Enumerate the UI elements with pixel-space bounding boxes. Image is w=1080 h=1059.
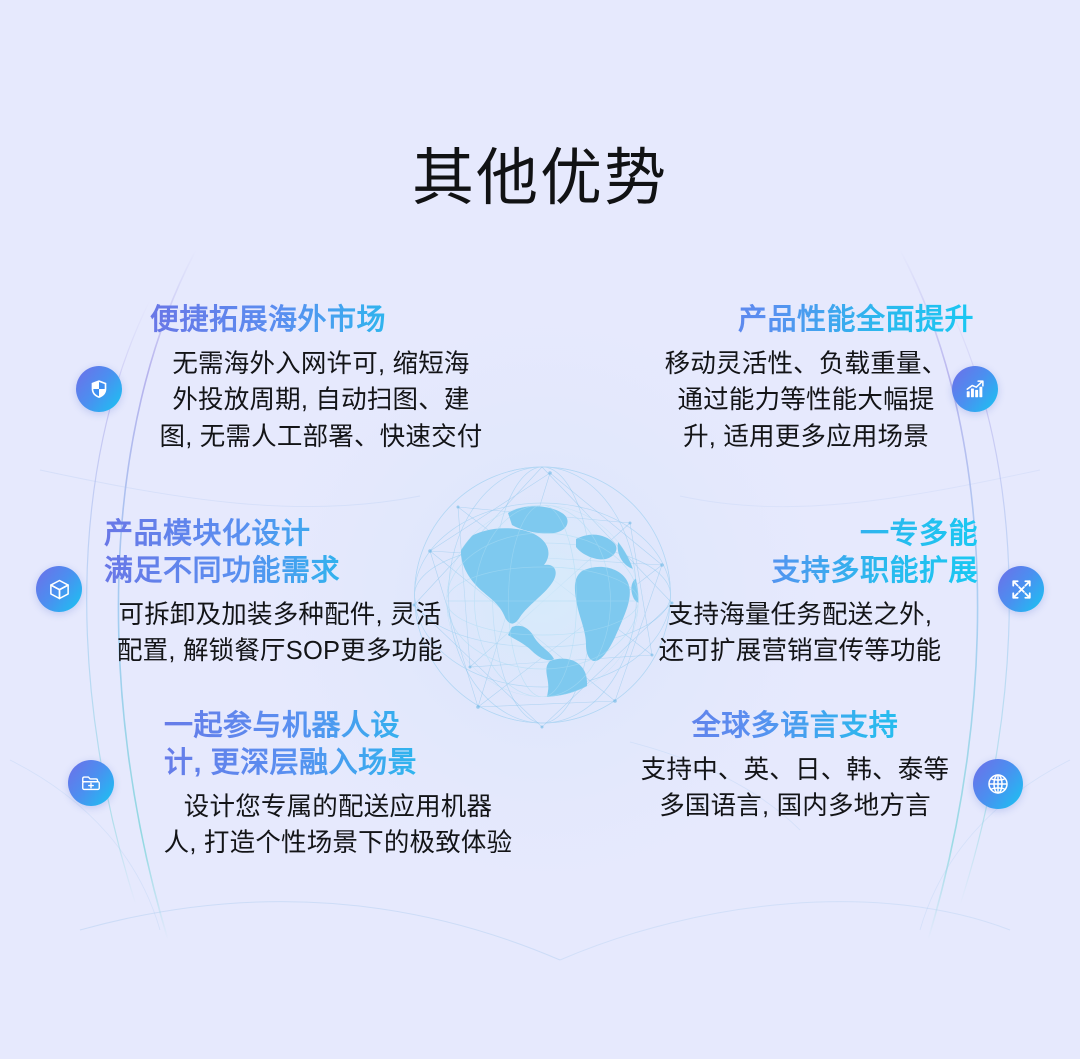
feature-heading: 产品模块化设计 满足不同功能需求 xyxy=(100,516,460,590)
cube-icon xyxy=(36,566,82,612)
feature-heading: 一专多能 支持多职能扩展 xyxy=(620,516,980,590)
feature-body: 支持中、英、日、韩、泰等 多国语言, 国内多地方言 xyxy=(610,752,980,824)
feature-body: 设计您专属的配送应用机器 人, 打造个性场景下的极致体验 xyxy=(128,789,548,861)
feature-block-co-design: 一起参与机器人设 计, 更深层融入场景 设计您专属的配送应用机器 人, 打造个性… xyxy=(128,708,548,862)
globe-icon xyxy=(973,759,1023,809)
folder-plus-icon xyxy=(68,760,114,806)
feature-block-multi-language: 全球多语言支持 支持中、英、日、韩、泰等 多国语言, 国内多地方言 xyxy=(610,708,980,825)
feature-heading: 一起参与机器人设 计, 更深层融入场景 xyxy=(128,708,548,782)
feature-body: 无需海外入网许可, 缩短海 外投放周期, 自动扫图、建 图, 无需人工部署、快速… xyxy=(146,346,496,455)
feature-body: 可拆卸及加装多种配件, 灵活 配置, 解锁餐厅SOP更多功能 xyxy=(100,597,460,669)
feature-heading: 便捷拓展海外市场 xyxy=(146,302,496,339)
feature-block-overseas-market: 便捷拓展海外市场 无需海外入网许可, 缩短海 外投放周期, 自动扫图、建 图, … xyxy=(146,302,496,455)
feature-heading: 全球多语言支持 xyxy=(610,708,980,745)
feature-body: 支持海量任务配送之外, 还可扩展营销宣传等功能 xyxy=(620,597,980,669)
feature-block-multi-function: 一专多能 支持多职能扩展 支持海量任务配送之外, 还可扩展营销宣传等功能 xyxy=(620,516,980,670)
growth-chart-icon xyxy=(952,366,998,412)
feature-body: 移动灵活性、负载重量、 通过能力等性能大幅提 升, 适用更多应用场景 xyxy=(632,346,980,455)
feature-block-product-performance: 产品性能全面提升 移动灵活性、负载重量、 通过能力等性能大幅提 升, 适用更多应… xyxy=(632,302,980,455)
page-title: 其他优势 xyxy=(0,146,1080,211)
expand-arrows-icon xyxy=(998,566,1044,612)
feature-heading: 产品性能全面提升 xyxy=(632,302,980,339)
shield-icon xyxy=(76,366,122,412)
advantages-infographic: 其他优势 便捷拓展海外市场 无需海外入网许可, 缩短海 外投放周期, 自动扫图、… xyxy=(0,0,1080,1059)
feature-block-modular-design: 产品模块化设计 满足不同功能需求 可拆卸及加装多种配件, 灵活 配置, 解锁餐厅… xyxy=(100,516,460,670)
